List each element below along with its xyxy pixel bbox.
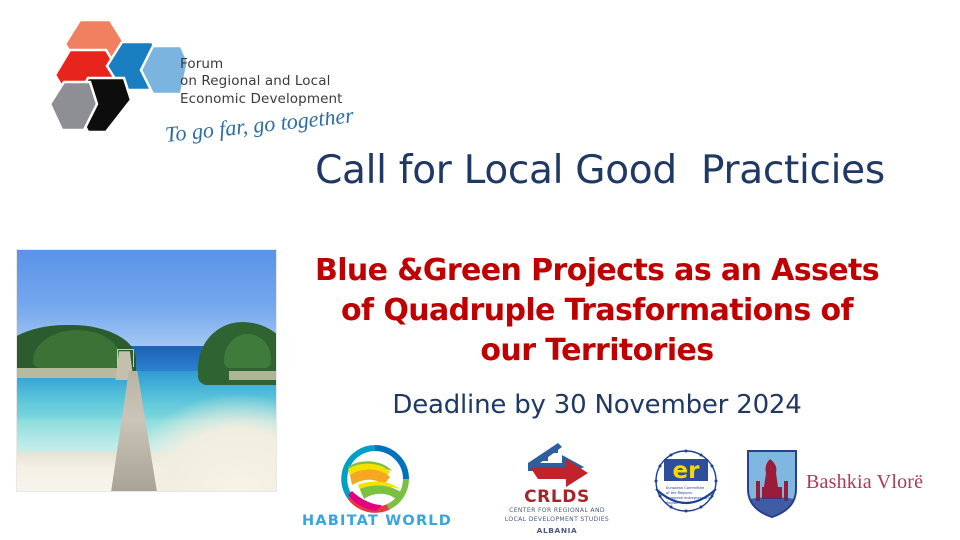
headline: Blue &Green Projects as an Assets of Qua… — [292, 251, 902, 371]
crlds-fullname: CENTER FOR REGIONAL AND LOCAL DEVELOPMEN… — [492, 506, 622, 525]
partner-logo-bashkia-vlore: Bashkia Vlorë — [736, 443, 916, 538]
crlds-country: ALBANIA — [492, 526, 622, 535]
partner-logo-eer: er European Committee of the Regions Eur… — [636, 443, 736, 538]
beach-pier-photo — [16, 249, 277, 492]
eer-sub-line-2: of the Regions — [666, 491, 692, 495]
european-entrepreneurial-region-icon: er European Committee of the Regions Eur… — [640, 445, 732, 517]
eer-sub-line-3: European entrepreneurial — [666, 496, 712, 500]
slide-canvas: Forum on Regional and Local Economic Dev… — [0, 0, 960, 540]
forum-logo-wordmark: Forum on Regional and Local Economic Dev… — [180, 56, 355, 108]
logo-text-line-1: Forum — [180, 56, 355, 73]
deadline-text: Deadline by 30 November 2024 — [292, 390, 902, 420]
logo-text-line-2: on Regional and Local — [180, 73, 355, 90]
crlds-arrows-icon — [514, 443, 600, 487]
habitat-world-globe-icon — [338, 445, 412, 513]
forum-logo: Forum on Regional and Local Economic Dev… — [48, 12, 348, 152]
logo-text-line-3: Economic Development — [180, 91, 355, 108]
vlore-coat-of-arms-icon — [744, 447, 800, 519]
vlore-label: Bashkia Vlorë — [806, 471, 923, 494]
habitat-world-label: HABITAT WORLD — [302, 513, 452, 529]
page-title: Call for Local Good Practicies — [300, 148, 900, 193]
crlds-acronym: CRLDS — [492, 487, 622, 507]
partner-logo-crlds: CRLDS CENTER FOR REGIONAL AND LOCAL DEVE… — [492, 443, 622, 538]
tagline-text: To go far, go together — [164, 112, 355, 147]
crlds-fullname-line-1: CENTER FOR REGIONAL AND — [492, 506, 622, 515]
crest-waves — [750, 497, 794, 516]
photo-left-shore — [17, 368, 121, 378]
photo-right-shore — [229, 371, 276, 381]
eer-sub-line-1: European Committee — [666, 486, 705, 490]
eer-sub-line-4: Region — [666, 501, 678, 505]
partner-logo-habitat-world: HABITAT WORLD — [302, 443, 452, 538]
crlds-fullname-line-2: LOCAL DEVELOPMENT STUDIES — [492, 515, 622, 524]
eer-monogram: er — [673, 458, 701, 484]
partner-logo-row: HABITAT WORLD CRLDS CENTER FOR REGIONAL … — [296, 443, 916, 538]
